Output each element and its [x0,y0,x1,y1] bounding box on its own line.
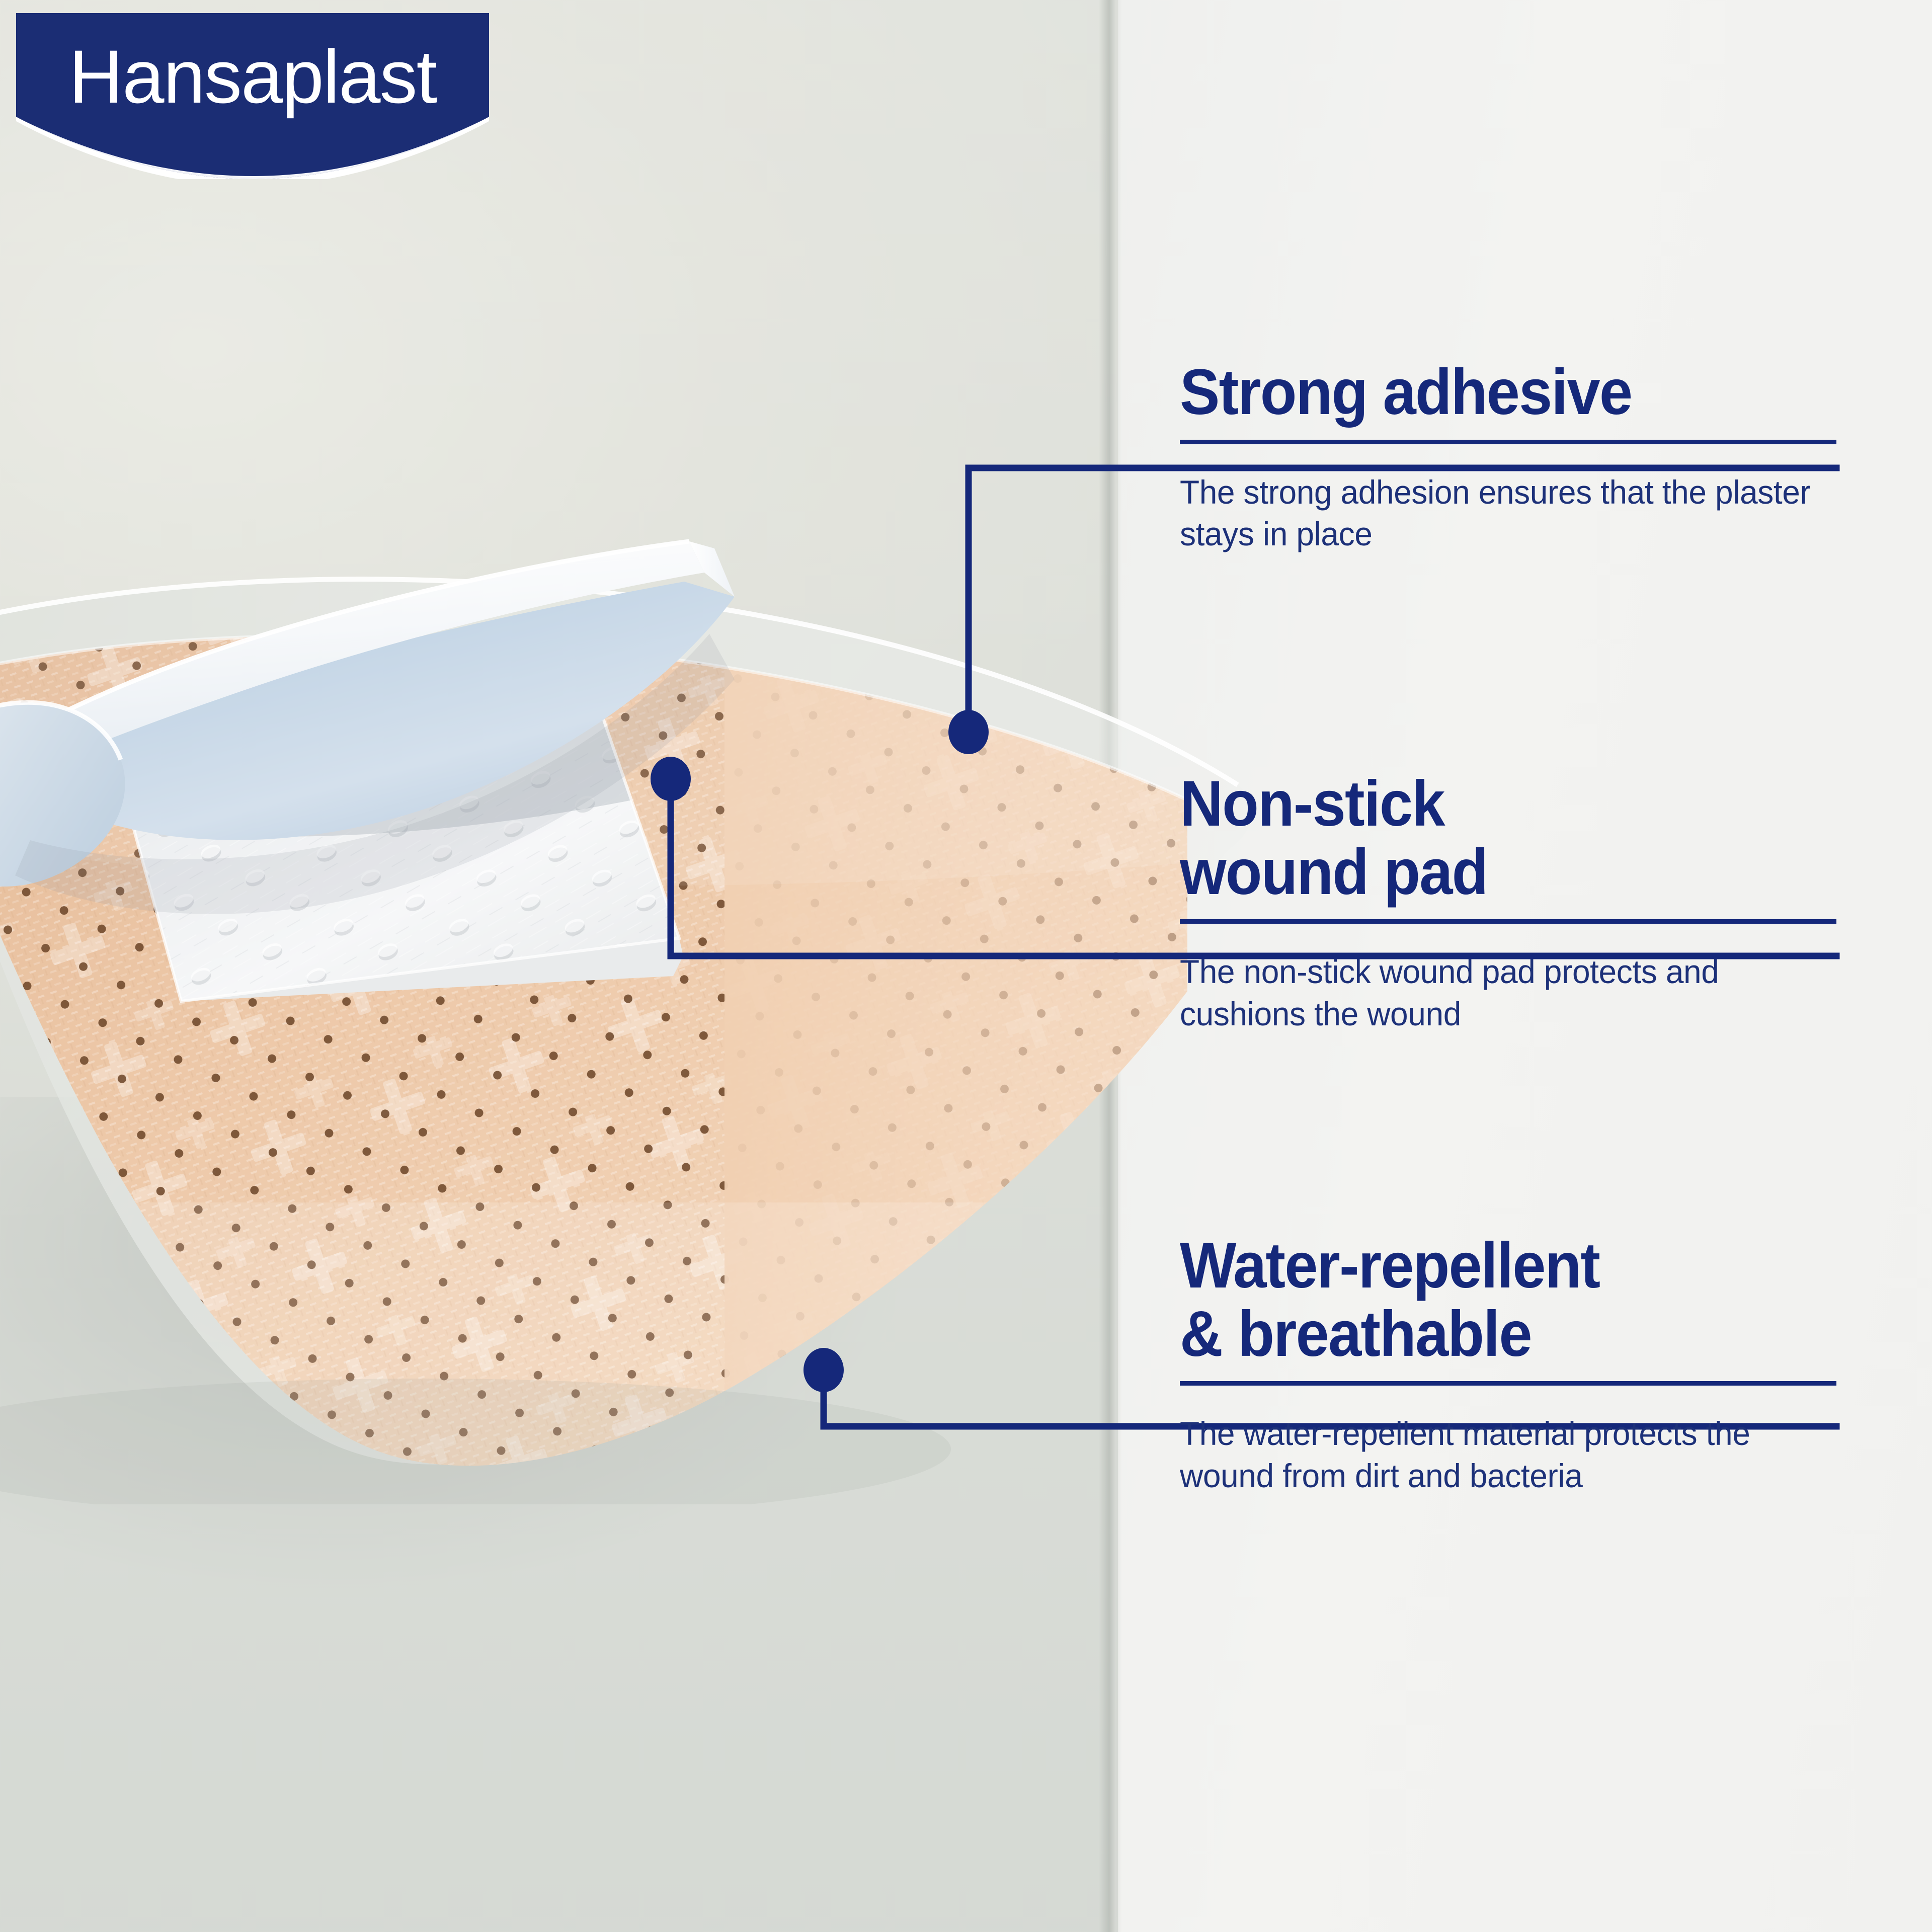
plaster-drop-shadow [0,1379,951,1504]
feature-title-water-repellent: Water-repellent & breathable [1180,1232,1791,1368]
feature-block-strong-adhesive: Strong adhesive The strong adhesion ensu… [1180,358,1836,555]
feature-divider-water-repellent [1180,1381,1836,1386]
logo-wordmark: Hansaplast [69,34,437,119]
infographic-canvas: Hansaplast [0,0,1932,1932]
feature-divider-strong-adhesive [1180,440,1836,444]
plaster-product-illustration [0,397,1258,1504]
feature-title-wound-pad: Non-stick wound pad [1180,770,1791,906]
feature-block-water-repellent: Water-repellent & breathable The water-r… [1180,1232,1836,1497]
feature-divider-wound-pad [1180,919,1836,924]
feature-block-wound-pad: Non-stick wound pad The non-stick wound … [1180,770,1836,1035]
feature-title-strong-adhesive: Strong adhesive [1180,358,1791,427]
feature-body-water-repellent: The water-repellent material protects th… [1180,1413,1817,1496]
feature-body-strong-adhesive: The strong adhesion ensures that the pla… [1180,471,1817,555]
hansaplast-logo: Hansaplast [16,13,489,179]
feature-body-wound-pad: The non-stick wound pad protects and cus… [1180,951,1817,1034]
